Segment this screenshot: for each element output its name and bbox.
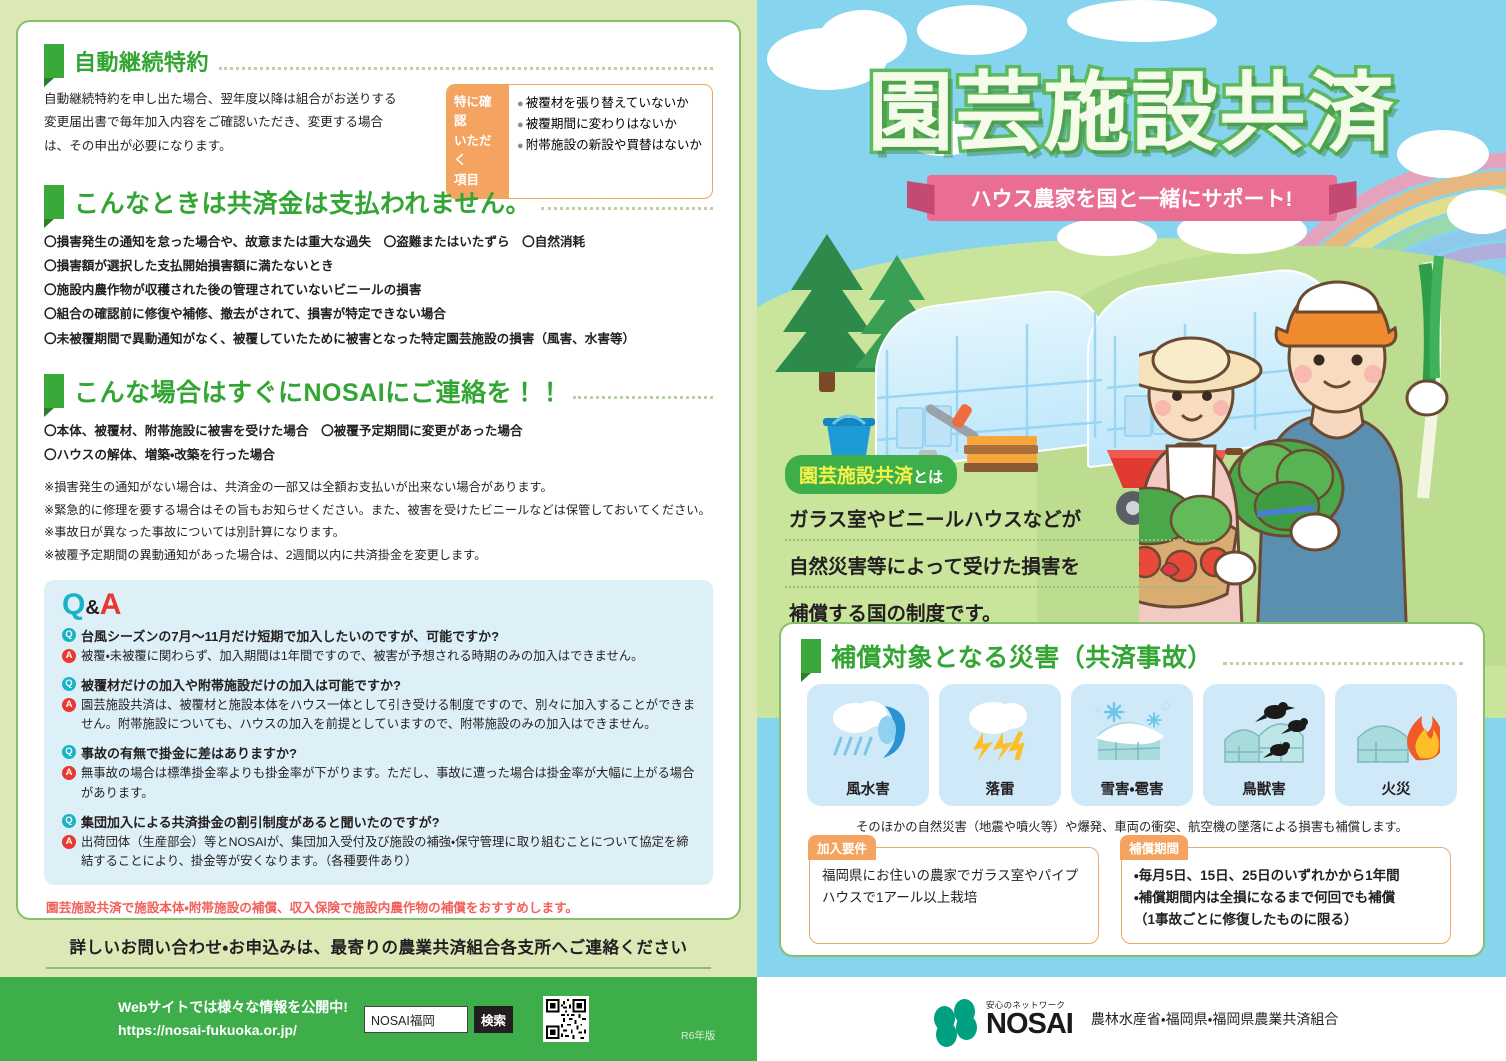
bird-animal-icon [1203, 684, 1325, 778]
question-badge-icon: Q [62, 677, 76, 691]
website-promo-line1: Webサイトでは様々な情報を公開中! [118, 996, 348, 1019]
auto-renewal-paragraph: 自動継続特約を申し出た場合、翌年度以降は組合がお送りする変更届出書で毎年加入内容… [44, 88, 404, 158]
qa-heading-q: Q [62, 588, 85, 621]
confirm-item: 被覆材を張り替えていないか [517, 93, 702, 114]
left-panel: 自動継続特約 自動継続特約を申し出た場合、翌年度以降は組合がお送りする変更届出書… [0, 0, 757, 1061]
question-badge-icon: Q [62, 814, 76, 828]
section-tab-marker [44, 185, 64, 219]
contact-divider [46, 967, 711, 969]
coverage-period-tag: 補償期間 [1120, 835, 1188, 860]
coverage-period-line: ・補償期間内は全損になるまで何回でも補償 [1134, 887, 1438, 909]
qa-answer-text: 被覆・未被覆に関わらず、加入期間は1年間ですので、被害が予想される時期のみの加入… [81, 647, 643, 666]
eligibility-tag: 加入要件 [808, 835, 876, 860]
question-badge-icon: Q [62, 628, 76, 642]
answer-badge-icon: A [62, 649, 76, 663]
left-content-card: 自動継続特約 自動継続特約を申し出た場合、翌年度以降は組合がお送りする変更届出書… [16, 20, 741, 920]
definition-chip-main: 園芸施設共済 [799, 466, 913, 487]
not-paid-list: 〇損害発生の通知を怠った場合や、故意または重大な過失 〇盗難またはいたずら 〇自… [44, 230, 713, 351]
dotted-leader [219, 67, 713, 70]
list-item: 〇ハウスの解体、増築・改築を行った場合 [44, 443, 713, 467]
brochure-page: 自動継続特約 自動継続特約を申し出た場合、翌年度以降は組合がお送りする変更届出書… [0, 0, 1506, 1061]
disaster-cell-wind-rain: 風水害 [807, 684, 929, 806]
page-title: 園芸施設共済 [757, 42, 1506, 167]
disaster-icon-row: 風水害 落雷 [801, 684, 1463, 806]
disaster-label: 落雷 [986, 778, 1015, 799]
definition-line: 自然災害等によって受けた損害を [785, 541, 1215, 588]
coverage-period-line: （1事故ごとに修復したものに限る） [1134, 909, 1438, 931]
website-promo: Webサイトでは様々な情報を公開中! https://nosai-fukuoka… [118, 996, 348, 1042]
left-footer-bar: Webサイトでは様々な情報を公開中! https://nosai-fukuoka… [0, 977, 757, 1061]
section-title: 自動継続特約 [74, 45, 209, 77]
confirm-item: 附帯施設の新設や買替はないか [517, 135, 702, 156]
fire-icon [1335, 684, 1457, 778]
list-item: 〇施設内農作物が収穫された後の管理されていないビニールの損害 [44, 278, 713, 302]
section-tab-marker [44, 374, 64, 408]
section-title: こんなときは共済金は支払われません。 [74, 184, 531, 220]
qa-answer: A 出荷団体（生産部会）等とNOSAIが、集団加入受付及び施設の補強・保守管理に… [62, 833, 695, 871]
note-item: ※緊急的に修理を要する場合はその旨もお知らせください。また、被害を受けたビニール… [44, 499, 713, 522]
qa-item: Q 集団加入による共済掛金の割引制度があると聞いたのですが? A 出荷団体（生産… [62, 812, 695, 871]
qa-question: Q 被覆材だけの加入や附帯施設だけの加入は可能ですか? [62, 675, 695, 694]
qa-question: Q 台風シーズンの7月～11月だけ短期で加入したいのですが、可能ですか? [62, 626, 695, 645]
qa-answer-text: 園芸施設共済は、被覆材と施設本体をハウス一体として引き受ける制度ですので、別々に… [81, 696, 695, 734]
lightning-icon [939, 684, 1061, 778]
qa-item: Q 台風シーズンの7月～11月だけ短期で加入したいのですが、可能ですか? A 被… [62, 626, 695, 666]
disaster-label: 鳥獣害 [1242, 778, 1286, 799]
qa-item: Q 事故の有無で掛金に差はありますか? A 無事故の場合は標準掛金率よりも掛金率… [62, 743, 695, 802]
qa-question: Q 事故の有無で掛金に差はありますか? [62, 743, 695, 762]
qa-question-text: 被覆材だけの加入や附帯施設だけの加入は可能ですか? [81, 675, 401, 694]
snow-hail-icon [1071, 684, 1193, 778]
confirm-items-box: 特に確認いただく項目 被覆材を張り替えていないか 被覆期間に変わりはないか 附帯… [446, 84, 713, 199]
qa-question-text: 事故の有無で掛金に差はありますか? [81, 743, 297, 762]
qa-heading: Q&A [62, 590, 695, 620]
answer-badge-icon: A [62, 698, 76, 712]
qa-question: Q 集団加入による共済掛金の割引制度があると聞いたのですが? [62, 812, 695, 831]
notes-list: ※損害発生の通知がない場合は、共済金の一部又は全額お支払いが出来ない場合がありま… [44, 476, 713, 566]
coverage-period-line: ・毎月5日、15日、25日のいずれかから1年間 [1134, 865, 1438, 887]
cloud-icon [1067, 0, 1217, 42]
other-disasters-note: そのほかの自然災害（地震や噴火等）や爆発、車両の衝突、航空機の墜落による損害も補… [801, 817, 1463, 835]
hero-ribbon: ハウス農家を国と一緒にサポート! [927, 175, 1337, 221]
confirm-item: 被覆期間に変わりはないか [517, 114, 702, 135]
covered-disasters-panel: 補償対象となる災害（共済事故） 風 [779, 622, 1485, 957]
list-item: 〇損害発生の通知を怠った場合や、故意または重大な過失 〇盗難またはいたずら 〇自… [44, 230, 713, 254]
contact-nosai-list: 〇本体、被覆材、附帯施設に被害を受けた場合 〇被覆予定期間に変更があった場合 〇… [44, 419, 713, 467]
answer-badge-icon: A [62, 835, 76, 849]
qa-question-text: 台風シーズンの7月～11月だけ短期で加入したいのですが、可能ですか? [81, 626, 499, 645]
search-button[interactable]: 検索 [474, 1006, 513, 1033]
disaster-cell-fire: 火災 [1335, 684, 1457, 806]
eligibility-text: 福岡県にお住いの農家でガラス室やパイプハウスで1アール以上栽培 [822, 865, 1086, 909]
qa-answer-text: 無事故の場合は標準掛金率よりも掛金率が下がります。ただし、事故に遭った場合は掛金… [81, 764, 695, 802]
disaster-cell-snow-hail: 雪害・雹害 [1071, 684, 1193, 806]
male-farmer [1227, 256, 1447, 648]
answer-badge-icon: A [62, 766, 76, 780]
contact-title: 詳しいお問い合わせ・お申込みは、最寄りの農業共済組合各支所へご連絡ください [46, 934, 711, 958]
disaster-cell-bird-animal: 鳥獣害 [1203, 684, 1325, 806]
section-tab-marker [44, 44, 64, 78]
wind-rain-icon [807, 684, 929, 778]
disaster-label: 雪害・雹害 [1101, 778, 1164, 799]
section-title: こんな場合はすぐにNOSAIにご連絡を！！ [74, 373, 563, 409]
list-item: 〇本体、被覆材、附帯施設に被害を受けた場合 〇被覆予定期間に変更があった場合 [44, 419, 713, 443]
nosai-logo: 安心のネットワーク NOSAI [932, 999, 1073, 1039]
nosai-brand: NOSAI [986, 1011, 1073, 1039]
right-panel: 園芸施設共済 ハウス農家を国と一緒にサポート! [757, 0, 1506, 1061]
coverage-period-text: ・毎月5日、15日、25日のいずれかから1年間 ・補償期間内は全損になるまで何回… [1134, 865, 1438, 931]
definition-line: ガラス室やビニールハウスなどが [785, 494, 1215, 541]
search-input[interactable]: NOSAI福岡 [364, 1006, 468, 1033]
section-heading-contact-nosai: こんな場合はすぐにNOSAIにご連絡を！！ [44, 373, 713, 409]
qa-item: Q 被覆材だけの加入や附帯施設だけの加入は可能ですか? A 園芸施設共済は、被覆… [62, 675, 695, 734]
right-footer-bar: 安心のネットワーク NOSAI 農林水産省・福岡県・福岡県農業共済組合 [757, 977, 1506, 1061]
nosai-logo-text: 安心のネットワーク NOSAI [986, 999, 1073, 1039]
requirement-boxes: 加入要件 福岡県にお住いの農家でガラス室やパイプハウスで1アール以上栽培 補償期… [801, 847, 1463, 944]
note-item: ※被覆予定期間の異動通知があった場合は、2週間以内に共済掛金を変更します。 [44, 544, 713, 567]
disaster-label: 風水害 [846, 778, 890, 799]
note-item: ※損害発生の通知がない場合は、共済金の一部又は全額お支払いが出来ない場合がありま… [44, 476, 713, 499]
question-badge-icon: Q [62, 745, 76, 759]
version-label: R6年版 [681, 1028, 715, 1061]
dotted-leader [573, 396, 713, 399]
search-widget: NOSAI福岡 検索 [364, 1006, 513, 1033]
organization-name: 農林水産省・福岡県・福岡県農業共済組合 [1091, 1009, 1339, 1029]
section-title: 補償対象となる災害（共済事故） [831, 638, 1213, 674]
qr-code-icon[interactable] [543, 996, 589, 1042]
qa-answer: A 園芸施設共済は、被覆材と施設本体をハウス一体として引き受ける制度ですので、別… [62, 696, 695, 734]
confirm-box-label: 特に確認いただく項目 [447, 85, 509, 198]
dotted-leader [1223, 662, 1463, 665]
section-tab-marker [801, 639, 821, 673]
hero-title-block: 園芸施設共済 ハウス農家を国と一緒にサポート! [757, 42, 1506, 221]
qa-answer-text: 出荷団体（生産部会）等とNOSAIが、集団加入受付及び施設の補強・保守管理に取り… [81, 833, 695, 871]
coverage-period-box: 補償期間 ・毎月5日、15日、25日のいずれかから1年間 ・補償期間内は全損にな… [1121, 847, 1451, 944]
website-url[interactable]: https://nosai-fukuoka.or.jp/ [118, 1019, 348, 1042]
confirm-items-list: 被覆材を張り替えていないか 被覆期間に変わりはないか 附帯施設の新設や買替はない… [509, 85, 712, 198]
section-heading-auto-renewal: 自動継続特約 [44, 44, 713, 78]
qa-heading-amp: & [85, 597, 99, 619]
disaster-label: 火災 [1382, 778, 1411, 799]
list-item: 〇損害額が選択した支払開始損害額に満たないとき [44, 254, 713, 278]
eligibility-box: 加入要件 福岡県にお住いの農家でガラス室やパイプハウスで1アール以上栽培 [809, 847, 1099, 944]
list-item: 〇未被覆期間で異動通知がなく、被覆していたために被害となった特定園芸施設の損害（… [44, 327, 713, 351]
section-heading-covered-disasters: 補償対象となる災害（共済事故） [801, 638, 1463, 674]
definition-chip-suffix: とは [913, 469, 943, 486]
list-item: 〇組合の確認前に修復や補修、撤去がされて、損害が特定できない場合 [44, 302, 713, 326]
qa-answer: A 無事故の場合は標準掛金率よりも掛金率が下がります。ただし、事故に遭った場合は… [62, 764, 695, 802]
note-item: ※事故日が異なった事故については別計算になります。 [44, 521, 713, 544]
qa-answer: A 被覆・未被覆に関わらず、加入期間は1年間ですので、被害が予想される時期のみの… [62, 647, 695, 666]
qa-section: Q&A Q 台風シーズンの7月～11月だけ短期で加入したいのですが、可能ですか?… [44, 580, 713, 884]
qa-question-text: 集団加入による共済掛金の割引制度があると聞いたのですが? [81, 812, 440, 831]
nosai-logo-mark-icon [932, 999, 978, 1039]
dotted-leader [541, 207, 713, 210]
definition-card: 園芸施設共済とは ガラス室やビニールハウスなどが 自然災害等によって受けた損害を… [785, 455, 1215, 635]
section-heading-not-paid: こんなときは共済金は支払われません。 [44, 184, 713, 220]
qa-heading-a: A [100, 588, 122, 621]
definition-chip: 園芸施設共済とは [785, 455, 957, 494]
disaster-cell-lightning: 落雷 [939, 684, 1061, 806]
recommendation-note: 園芸施設共済で施設本体・附帯施設の補償、収入保険で施設内農作物の補償をおすすめし… [44, 897, 713, 916]
